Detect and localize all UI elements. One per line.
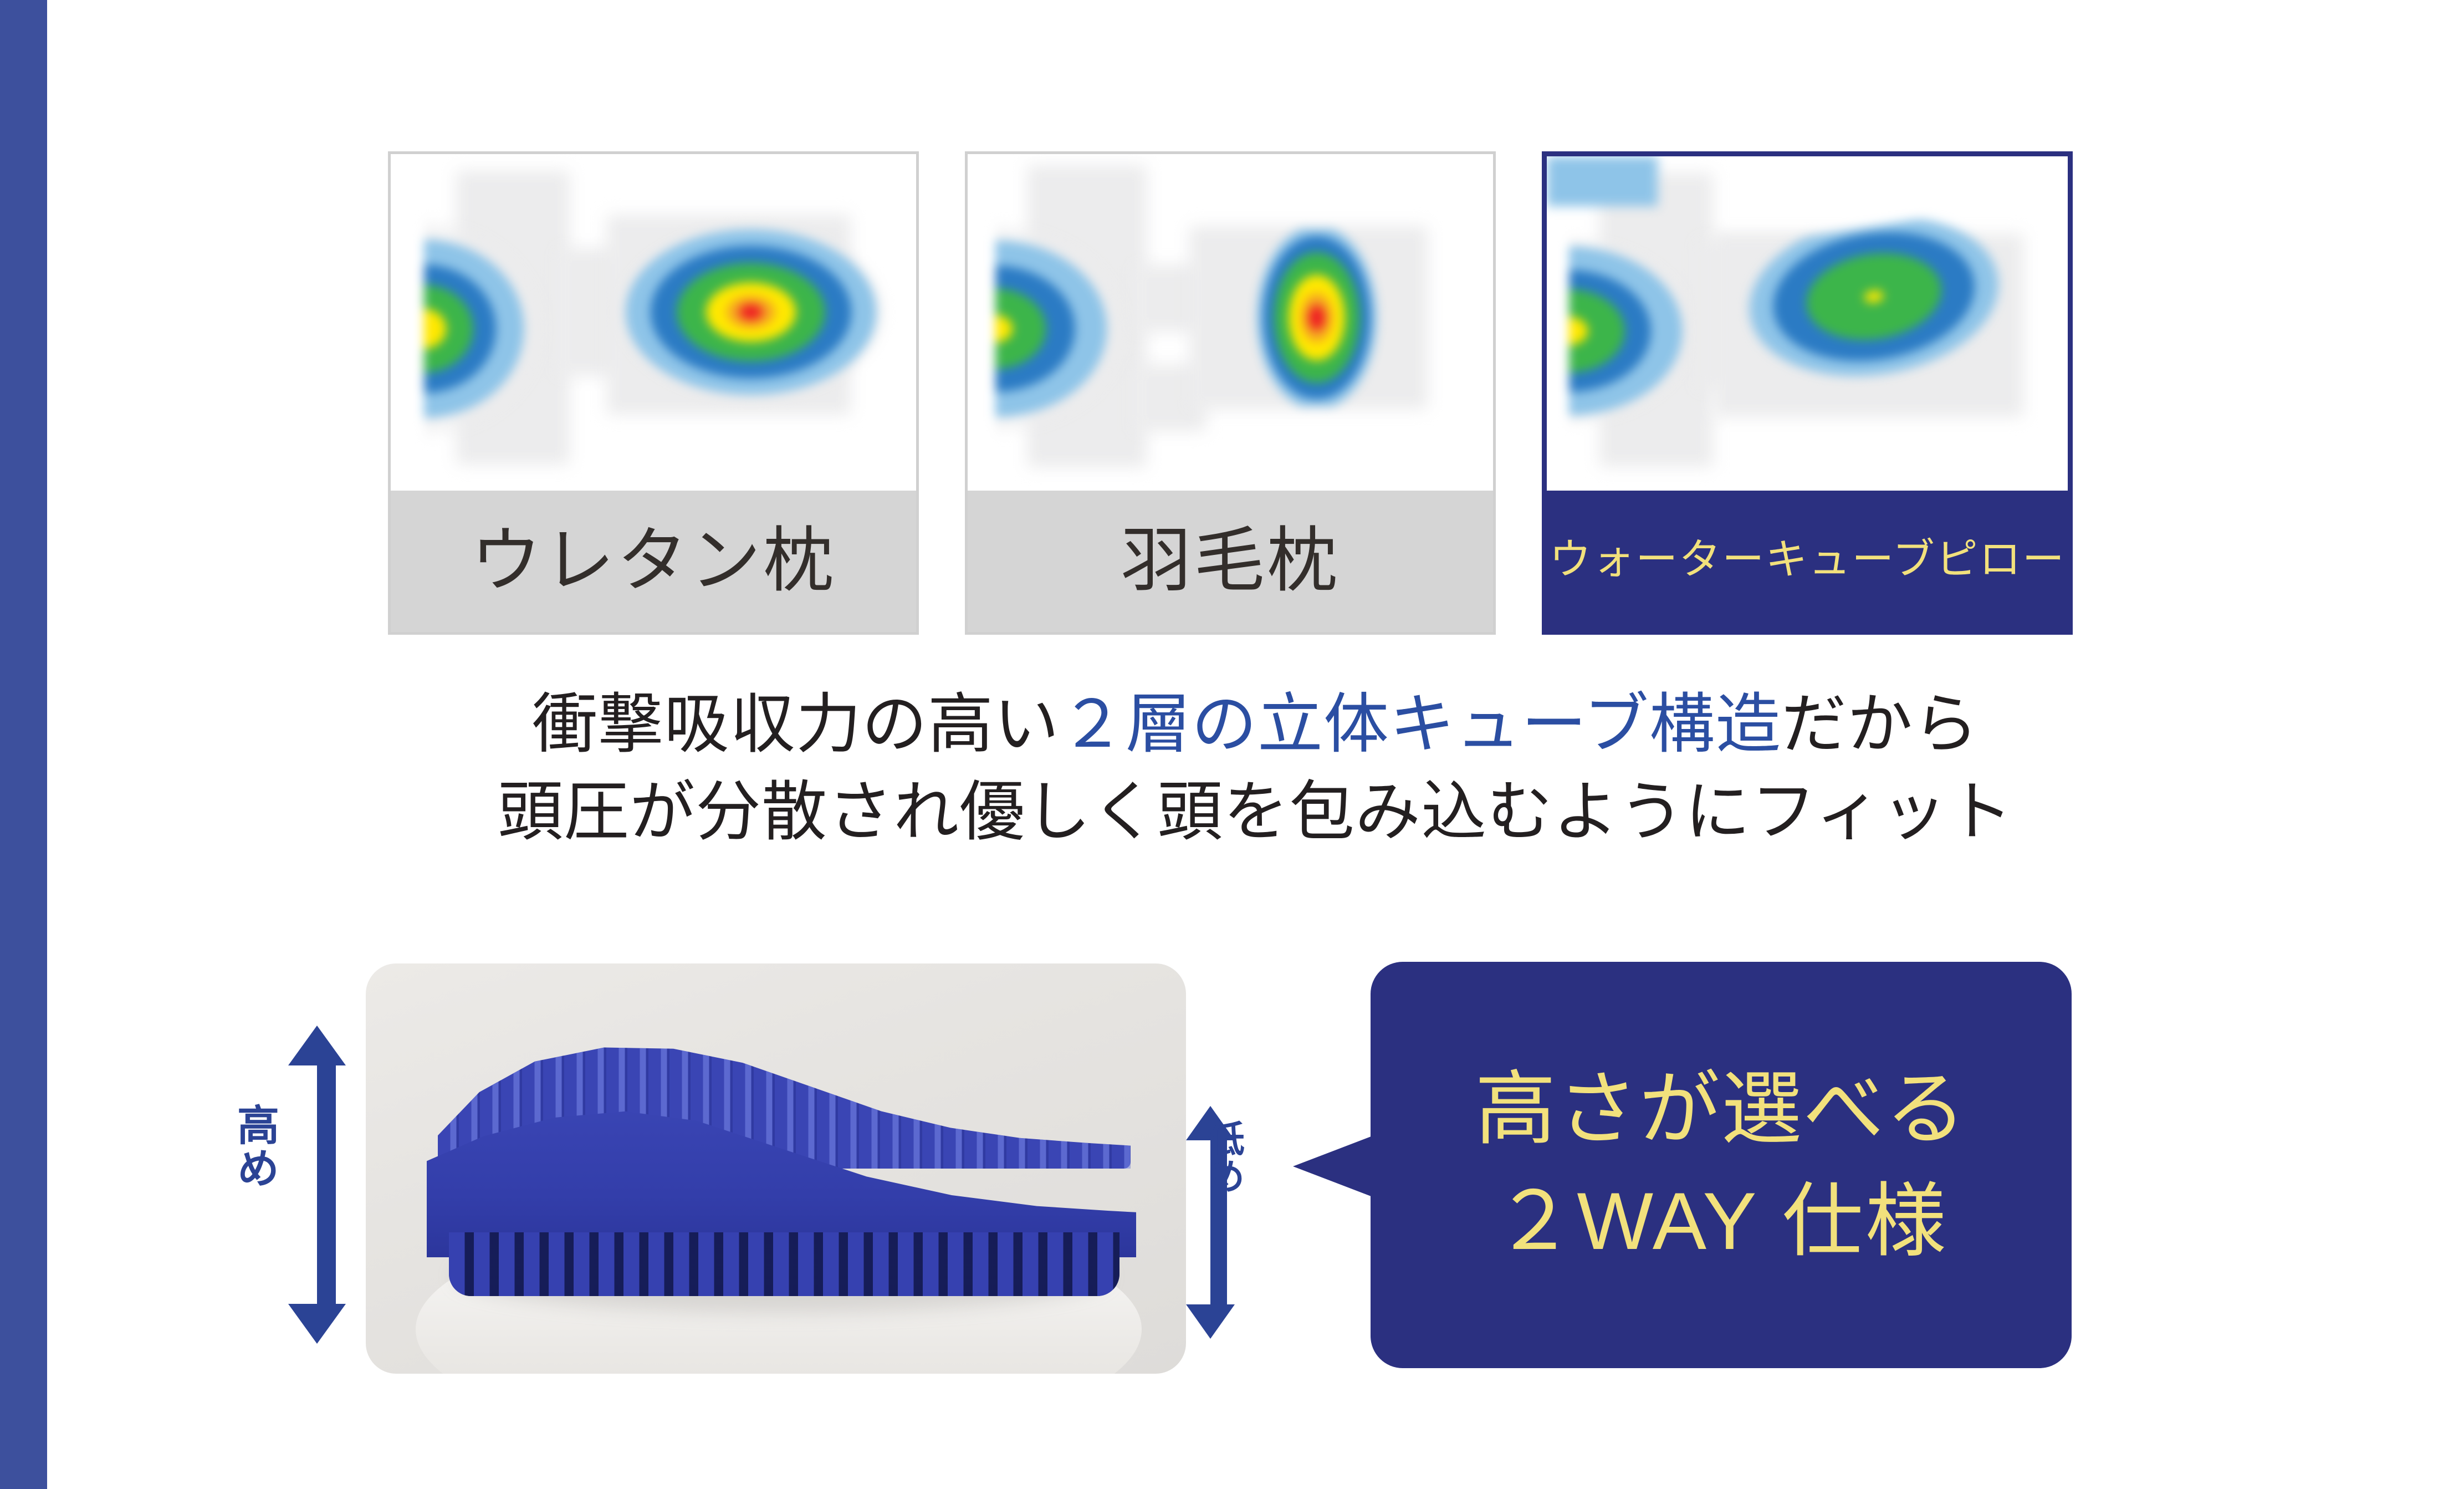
callout-line-2: ２WAY 仕様 xyxy=(1494,1165,1948,1277)
headline-line-2: 頭圧が分散され優しく頭を包み込むようにフィット xyxy=(47,768,2464,856)
pillow-product-image xyxy=(427,1041,1142,1296)
height-label-tall: 高め xyxy=(233,1103,275,1190)
panel-label-down: 羽毛枕 xyxy=(968,491,1493,632)
comparison-panel-urethane: ウレタン枕 xyxy=(388,151,919,635)
arrow-shaft xyxy=(317,1065,336,1304)
headline: 衝撃吸収力の高い２層の立体キューブ構造だから 頭圧が分散され優しく頭を包み込むよ… xyxy=(47,681,2464,856)
panel-label-watercube: ウォーターキューブ ピロー xyxy=(1547,491,2068,630)
pressure-map-urethane-icon xyxy=(391,154,916,491)
arrow-up-icon xyxy=(288,1026,346,1065)
headline-line-1: 衝撃吸収力の高い２層の立体キューブ構造だから xyxy=(47,681,2464,768)
arrow-down-icon xyxy=(288,1304,346,1344)
comparison-panel-watercube: ウォーターキューブ ピロー xyxy=(1542,151,2073,635)
headline-text-after: だから xyxy=(1781,688,1979,761)
panel-label-line2: ピロー xyxy=(1936,534,2066,586)
panel-label-urethane: ウレタン枕 xyxy=(391,491,916,632)
arrow-down-icon xyxy=(1186,1304,1235,1339)
headline-text-before: 衝撃吸収力の高い xyxy=(532,688,1060,761)
comparison-panel-down: 羽毛枕 xyxy=(965,151,1496,635)
height-label-low: 低め xyxy=(1205,1120,1242,1195)
panel-label-line1: ウォーターキューブ xyxy=(1549,534,1935,586)
callout-tail-icon xyxy=(1293,1136,1371,1196)
callout-line-1: 高さが選べる xyxy=(1475,1053,1967,1165)
pressure-map-down-icon xyxy=(968,154,1493,491)
pressure-comparison-group: ウレタン枕 羽毛枕 ウォーターキューブ ピロー xyxy=(388,151,2073,635)
callout-balloon: 高さが選べる ２WAY 仕様 xyxy=(1371,962,2072,1368)
pillow-bottom-fins-texture xyxy=(449,1232,1119,1296)
headline-highlight: ２層の立体キューブ構造 xyxy=(1060,688,1781,761)
pressure-map-watercube-icon xyxy=(1547,156,2068,491)
left-accent-stripe xyxy=(0,0,47,1489)
product-photo xyxy=(366,963,1186,1374)
